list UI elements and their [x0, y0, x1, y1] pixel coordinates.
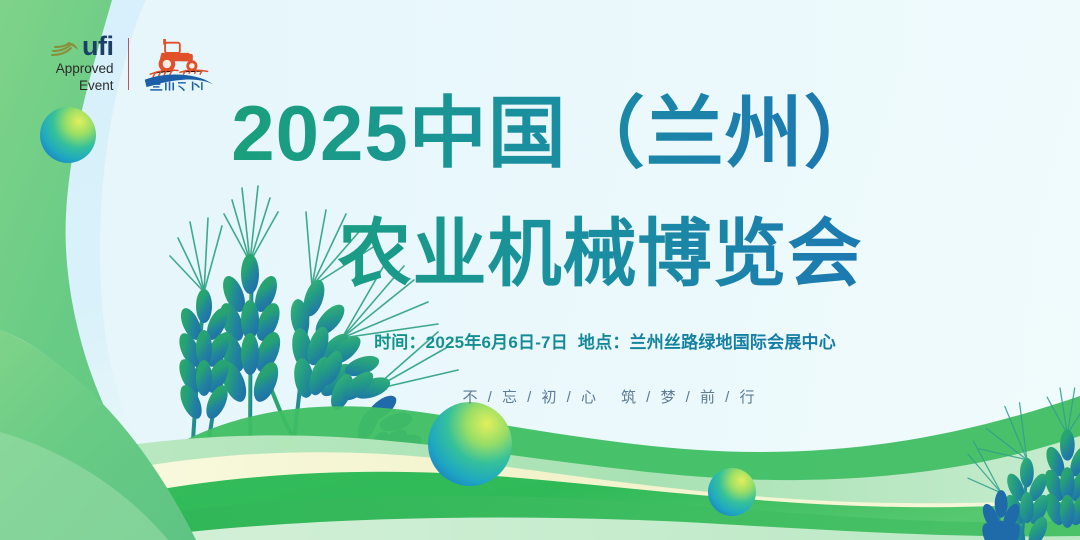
ufi-swoosh-icon [50, 40, 80, 60]
wave-green-upper-hill [150, 396, 1080, 540]
left-slope-pale [0, 432, 168, 540]
tractor-icon [159, 39, 198, 72]
wave-green-soft-foot [120, 517, 1080, 540]
slogan-line: 不 / 忘 / 初 / 心筑 / 梦 / 前 / 行 [70, 386, 1080, 407]
time-label: 时间： [374, 333, 426, 352]
left-light-band [0, 330, 170, 540]
slogan-part-2: 筑 / 梦 / 前 / 行 [621, 389, 758, 406]
time-value: 2025年6月6日-7日 [426, 333, 568, 352]
left-slope [0, 330, 196, 540]
ufi-wordmark: ufi [82, 34, 114, 60]
place-label: 地点： [578, 333, 630, 352]
blue-wave-ribbon [145, 74, 213, 87]
wave-cream [0, 452, 1080, 540]
wave-green-deep [0, 496, 1080, 540]
title-line-2: 农业机械博览会 [60, 214, 1080, 294]
ufi-approved-line: Approved [56, 61, 114, 77]
ufi-event-line: Event [79, 78, 114, 94]
logo-bar: ufi Approved Event [50, 34, 215, 93]
wheat-cluster-right [968, 388, 1080, 540]
wave-green-light-band [0, 435, 1080, 540]
wave-green-mid [0, 472, 1080, 540]
lanzhou-agricultural-machinery-emblem [141, 35, 215, 93]
sphere-center-bottom [428, 402, 512, 486]
slogan-part-1: 不 / 忘 / 初 / 心 [462, 389, 599, 406]
ufi-approved-event-logo: ufi Approved Event [50, 34, 114, 93]
event-meta-line: 时间：2025年6月6日-7日地点：兰州丝路绿地国际会展中心 [65, 328, 1080, 353]
place-value: 兰州丝路绿地国际会展中心 [630, 333, 836, 352]
title-line-1: 2025中国（兰州） [17, 91, 1080, 175]
logo-divider [128, 38, 130, 90]
expo-banner: ufi Approved Event [0, 0, 1080, 540]
sphere-lower-right [708, 468, 756, 516]
